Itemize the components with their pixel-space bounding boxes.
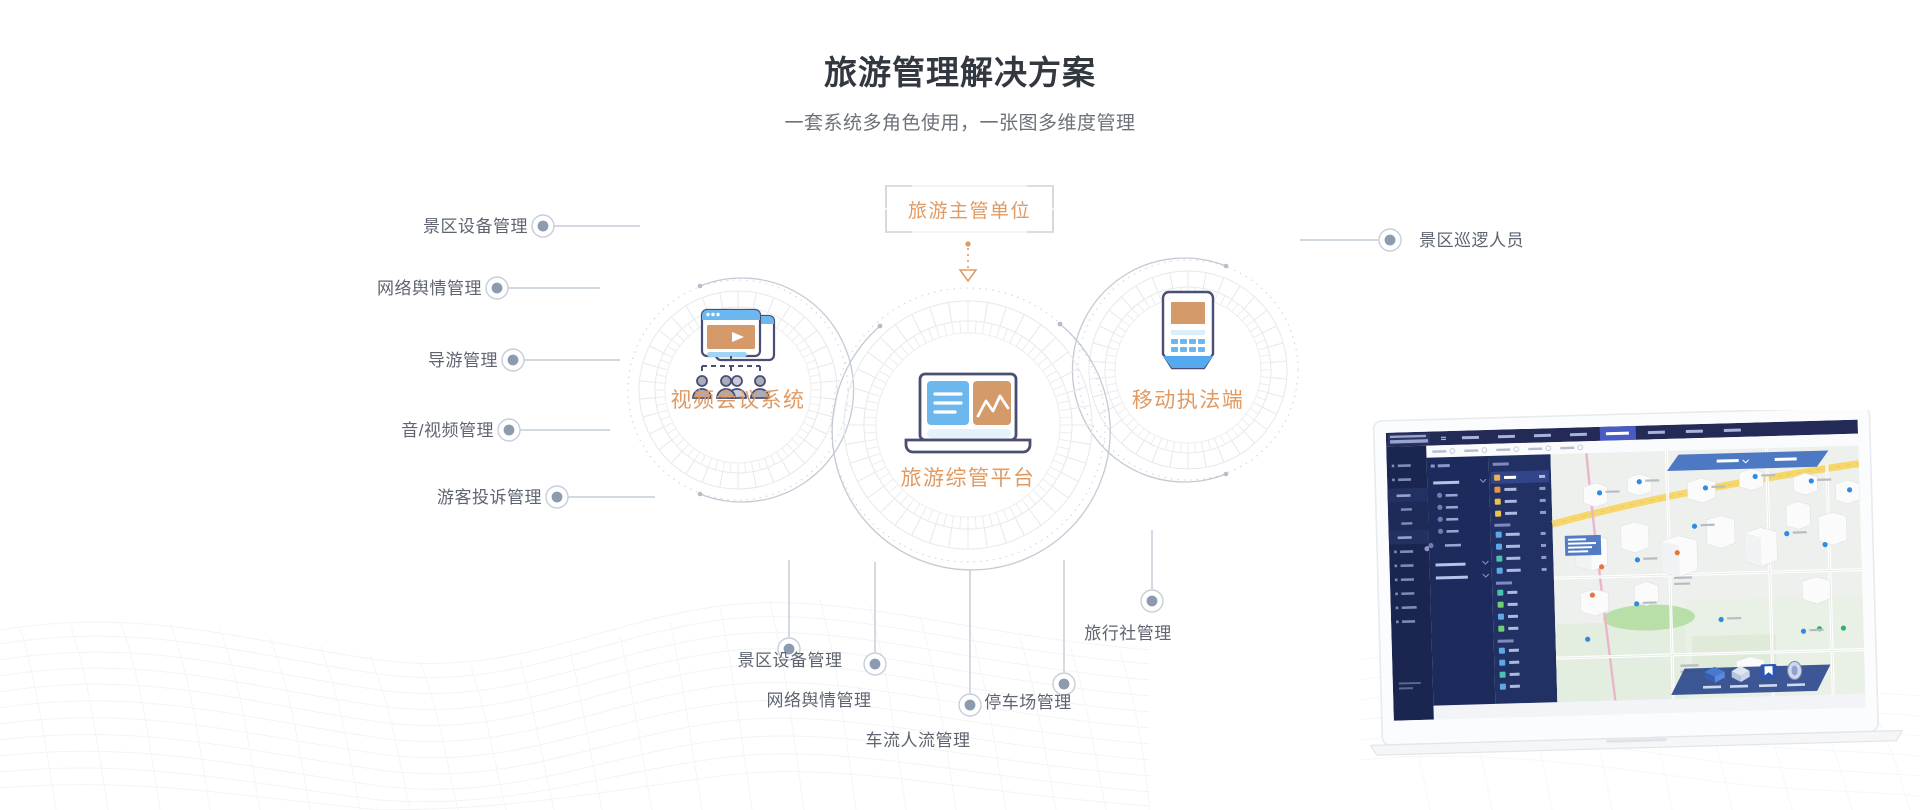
left-label-1: 网络舆情管理 (202, 280, 482, 297)
connector-dot (1141, 590, 1163, 612)
ring-label-platform: 旅游综管平台 (868, 468, 1068, 489)
bottom-label-4: 旅行社管理 (1048, 625, 1208, 642)
left-label-0: 景区设备管理 (248, 218, 528, 235)
connector-dot (864, 653, 886, 675)
ring-mobile-enforcement (1072, 258, 1298, 482)
connector-dot (502, 349, 524, 371)
bottom-label-2: 车流人流管理 (858, 732, 978, 749)
bottom-label-1: 网络舆情管理 (759, 692, 879, 709)
left-label-3: 音/视频管理 (214, 422, 494, 439)
screen-panel-tree (1427, 456, 1496, 706)
connector-dot (498, 419, 520, 441)
laptop-screen (1386, 420, 1866, 721)
dashed-arrow-down-icon (960, 241, 976, 281)
connector-dot (1053, 673, 1075, 695)
left-label-4: 游客投诉管理 (262, 489, 542, 506)
left-connector-lines (508, 226, 655, 497)
bottom-label-0: 景区设备管理 (730, 652, 850, 669)
laptop-mockup (1352, 410, 1912, 770)
handheld-terminal-icon (1163, 292, 1213, 368)
connector-dot (1379, 229, 1401, 251)
left-label-2: 导游管理 (218, 352, 498, 369)
right-label-0: 景区巡逻人员 (1419, 232, 1524, 249)
connector-dot (486, 277, 508, 299)
screen-sidebar (1386, 446, 1434, 721)
ring-tourism-platform (831, 288, 1110, 570)
left-connector-dots (486, 215, 568, 508)
connector-dot (546, 486, 568, 508)
page-root: 旅游管理解决方案 一套系统多角色使用，一张图多维度管理 (0, 0, 1920, 810)
gov-unit-label: 旅游主管单位 (886, 186, 1053, 232)
ring-label-mobile: 移动执法端 (1098, 390, 1278, 411)
connector-dot (532, 215, 554, 237)
laptop-dashboard-icon (906, 374, 1030, 452)
ring-label-video: 视频会议系统 (638, 390, 838, 411)
video-conference-icon (693, 310, 774, 398)
bottom-label-3: 停车场管理 (968, 694, 1088, 711)
